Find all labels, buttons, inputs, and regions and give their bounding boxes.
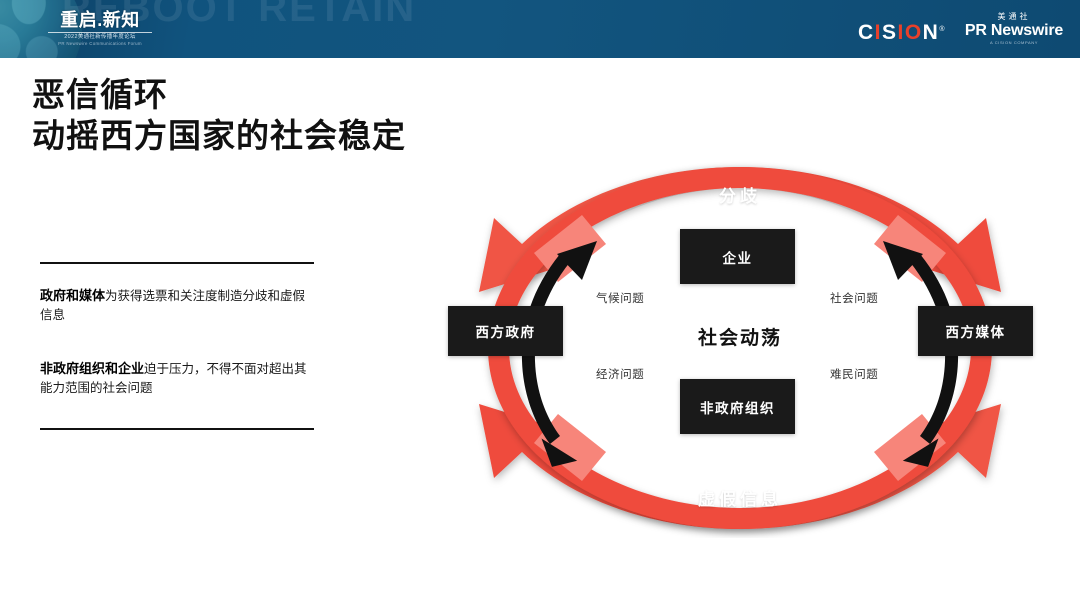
body-text-block: 政府和媒体为获得选票和关注度制造分歧和虚假信息 非政府组织和企业迫于压力，不得不…	[40, 262, 314, 430]
cision-letter-i1: I	[875, 21, 882, 44]
forum-logo-subtitle-en: PR Newswire Communications Forum	[58, 41, 142, 47]
forum-logo-divider	[48, 32, 152, 33]
cision-letter-o: O	[905, 21, 923, 44]
prnewswire-en: PR Newswire	[962, 22, 1066, 40]
cision-letter-s: S	[882, 21, 898, 44]
node-box-ngo[interactable]: 非政府组织	[680, 379, 795, 434]
node-box-enterprise[interactable]: 企业	[680, 229, 795, 284]
text-divider-top	[40, 262, 314, 264]
header-bar: REBOOT RETAIN 重启.新知 2022美通社新传播年度论坛 PR Ne…	[0, 0, 1080, 58]
slide-title-line-1: 恶信循环	[32, 74, 672, 115]
issue-label-economy: 经济问题	[596, 366, 644, 382]
prnewswire-logo: 美通社 PR Newswire A CISION COMPANY	[962, 11, 1066, 46]
slide-title-line-2: 动摇西方国家的社会稳定	[32, 115, 672, 156]
text-divider-bottom	[40, 428, 314, 430]
forum-logo-title: 重启.新知	[60, 10, 140, 30]
cision-letter-n: N	[923, 21, 940, 44]
cision-letter-c: C	[858, 21, 875, 44]
forum-logo-subtitle-cn: 2022美通社新传播年度论坛	[64, 34, 136, 41]
body-paragraph-1-lead: 政府和媒体	[40, 288, 105, 303]
ring-label-bottom: 虚假信息	[430, 485, 1050, 510]
issue-label-climate: 气候问题	[596, 290, 644, 306]
cycle-diagram: 分歧 虚假信息 企业 非政府组织 西方政府 西方媒体 社会动荡 气候问题 社会问…	[430, 158, 1050, 538]
body-paragraph-1: 政府和媒体为获得选票和关注度制造分歧和虚假信息	[40, 286, 314, 325]
issue-label-refugee: 难民问题	[830, 366, 878, 382]
cision-logo: CISION®	[858, 19, 946, 43]
cision-letter-i2: I	[897, 21, 904, 44]
forum-logo: 重启.新知 2022美通社新传播年度论坛 PR Newswire Communi…	[44, 10, 156, 50]
body-paragraph-2: 非政府组织和企业迫于压力，不得不面对超出其能力范围的社会问题	[40, 359, 314, 398]
body-paragraph-2-lead: 非政府组织和企业	[40, 361, 144, 376]
issue-label-social: 社会问题	[830, 290, 878, 306]
prnewswire-cn: 美通社	[962, 11, 1066, 22]
prnewswire-tagline: A CISION COMPANY	[962, 40, 1066, 46]
center-label-social-unrest: 社会动荡	[430, 323, 1050, 350]
slide-title: 恶信循环 动摇西方国家的社会稳定	[32, 74, 672, 156]
ring-label-top: 分歧	[430, 182, 1050, 207]
cision-trademark: ®	[939, 26, 946, 33]
